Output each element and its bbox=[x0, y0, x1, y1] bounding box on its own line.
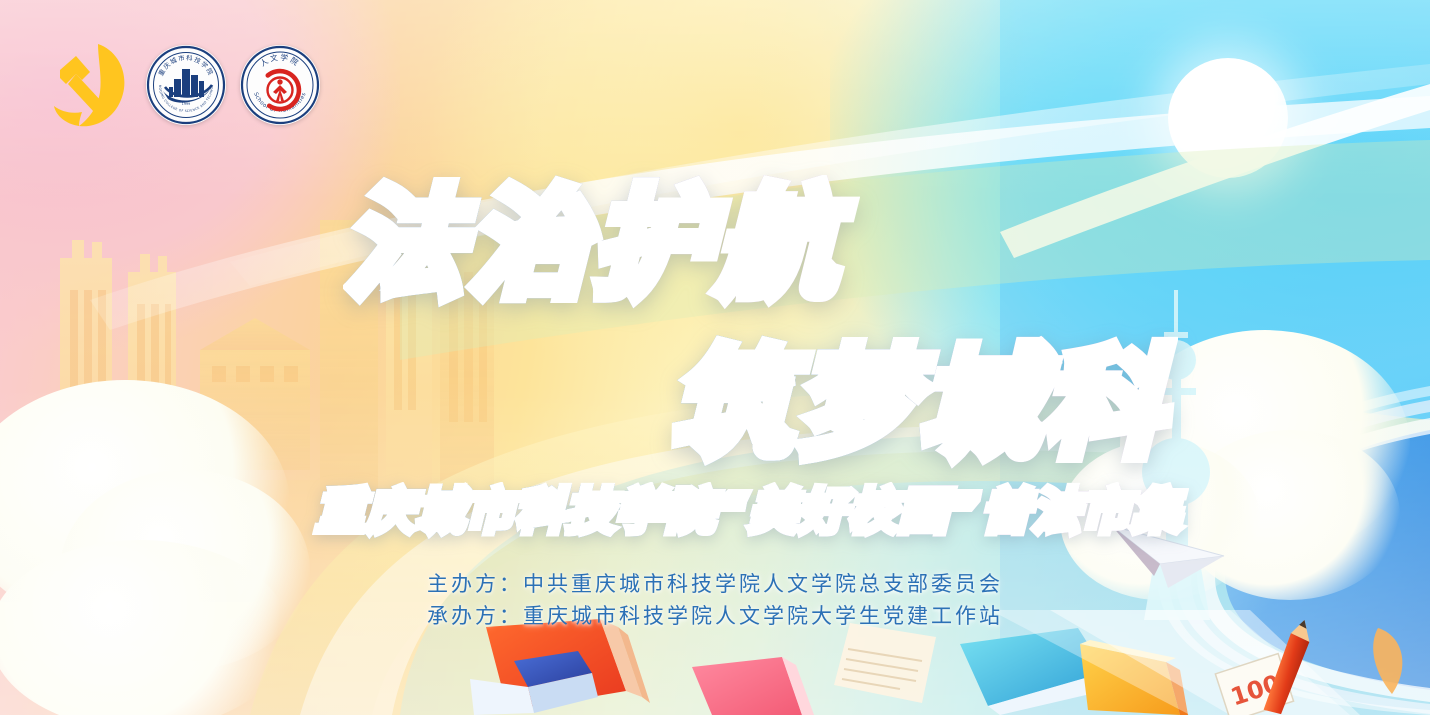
hammer-and-sickle-icon bbox=[46, 36, 132, 134]
stationery-right-group-icon: 100 bbox=[930, 610, 1430, 715]
school-of-humanities-seal: 人文学院 School Of Humanities bbox=[240, 45, 320, 125]
stationery-left-group-icon bbox=[430, 615, 970, 715]
university-seal: 重庆城市科技学院 CHONGQING COLLEGE OF SCIENCE AN… bbox=[146, 45, 226, 125]
sun-icon bbox=[1168, 58, 1288, 178]
poster-canvas: 100 重庆城市科技学院 bbox=[0, 0, 1430, 715]
svg-text:1999: 1999 bbox=[182, 102, 191, 106]
emblem-row: 重庆城市科技学院 CHONGQING COLLEGE OF SCIENCE AN… bbox=[46, 36, 320, 134]
